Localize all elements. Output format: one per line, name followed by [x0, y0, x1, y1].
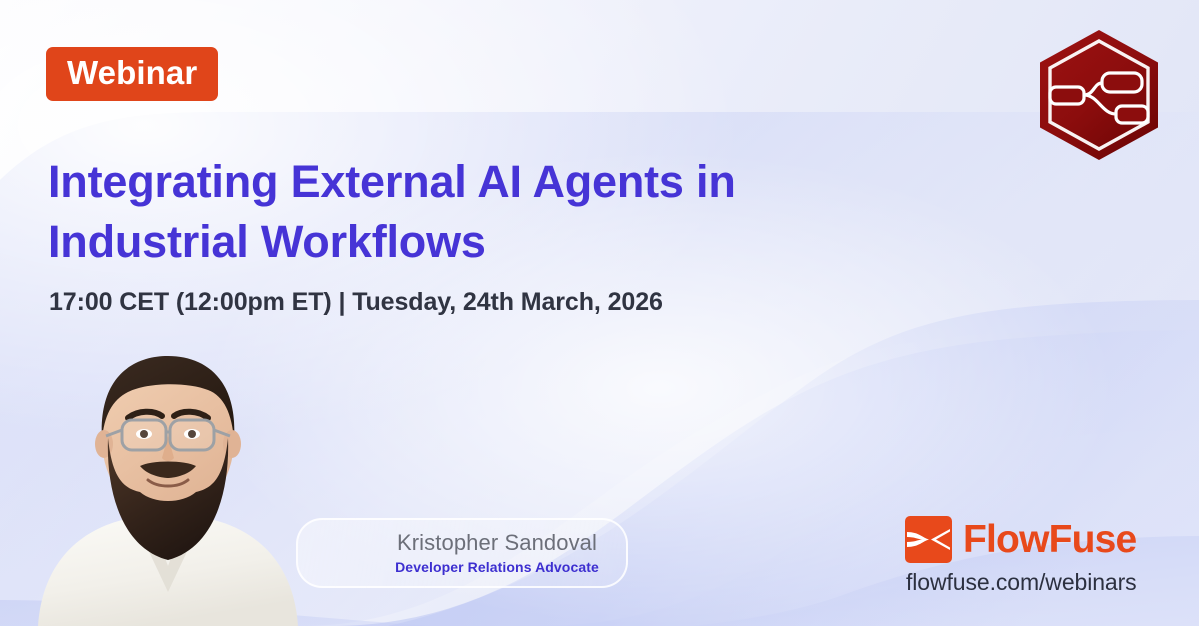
speaker-name: Kristopher Sandoval: [397, 530, 597, 556]
speaker-photo: [18, 352, 318, 626]
title-line-1: Integrating External AI Agents in: [48, 152, 828, 212]
schedule-text: 17:00 CET (12:00pm ET) | Tuesday, 24th M…: [49, 288, 663, 317]
speaker-role: Developer Relations Advocate: [395, 559, 599, 576]
webinars-url: flowfuse.com/webinars: [906, 569, 1145, 596]
flowfuse-wordmark: FlowFuse: [963, 520, 1136, 559]
node-red-hexagon-icon: [1036, 28, 1162, 162]
webinar-badge: Webinar: [46, 47, 218, 101]
webinar-promo-banner: Webinar Integrating External AI Agents i…: [0, 0, 1199, 626]
flowfuse-logo-icon: [905, 516, 952, 563]
flowfuse-brand-lockup: FlowFuse flowfuse.com/webinars: [905, 516, 1145, 596]
page-title: Integrating External AI Agents in Indust…: [48, 152, 828, 272]
title-line-2: Industrial Workflows: [48, 212, 828, 272]
speaker-card-content: Kristopher Sandoval Developer Relations …: [296, 518, 628, 588]
